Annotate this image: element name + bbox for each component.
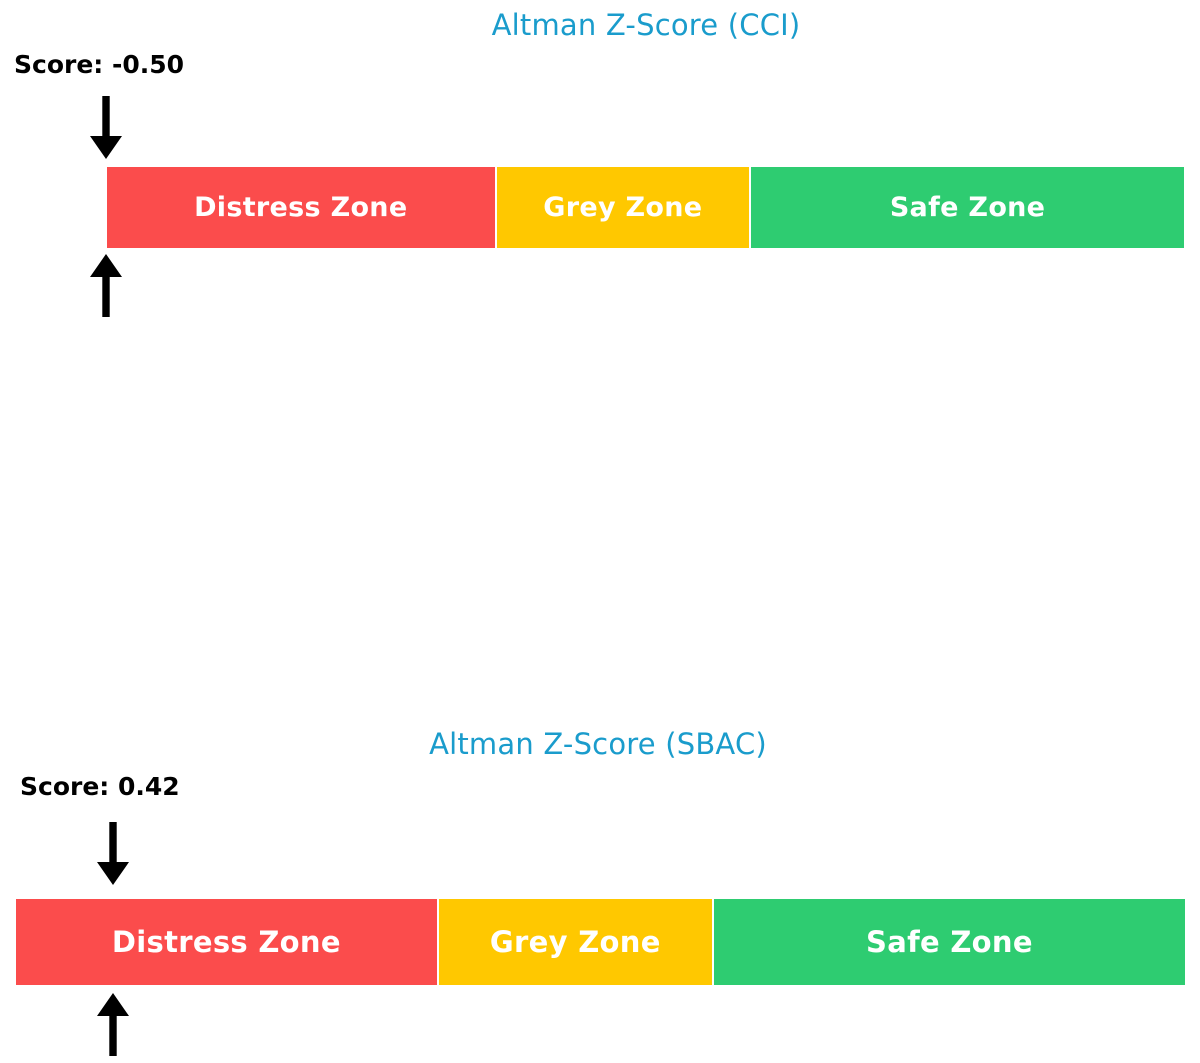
chart-title-sbac: Altman Z-Score (SBAC)	[0, 730, 1196, 759]
arrow-down-icon	[84, 96, 128, 166]
zone-label-distress: Distress Zone	[194, 194, 407, 221]
chart-panel-sbac: Altman Z-Score (SBAC) Score: 0.42 Distre…	[0, 360, 1200, 744]
zone-bar-sbac: Distress Zone Grey Zone Safe Zone	[15, 898, 1186, 986]
zone-segment-distress[interactable]: Distress Zone	[15, 898, 438, 986]
arrow-down-icon	[91, 822, 135, 892]
zone-label-safe: Safe Zone	[890, 194, 1046, 221]
arrow-up-icon	[91, 993, 135, 1063]
chart-canvas: Altman Z-Score (CCI) Score: -0.50 Distre…	[0, 0, 1200, 744]
zone-label-safe: Safe Zone	[866, 928, 1033, 957]
score-label-sbac: Score: 0.42	[20, 774, 180, 799]
zone-segment-safe[interactable]: Safe Zone	[750, 166, 1185, 249]
zone-label-grey: Grey Zone	[543, 194, 702, 221]
chart-panel-cci: Altman Z-Score (CCI) Score: -0.50 Distre…	[0, 0, 1200, 360]
zone-segment-distress[interactable]: Distress Zone	[106, 166, 496, 249]
arrow-up-icon	[84, 254, 128, 324]
chart-title-cci: Altman Z-Score (CCI)	[0, 11, 1200, 40]
zone-segment-grey[interactable]: Grey Zone	[438, 898, 713, 986]
zone-segment-safe[interactable]: Safe Zone	[713, 898, 1186, 986]
zone-bar-cci: Distress Zone Grey Zone Safe Zone	[106, 166, 1185, 249]
score-label-cci: Score: -0.50	[14, 52, 184, 77]
zone-label-grey: Grey Zone	[490, 928, 661, 957]
zone-label-distress: Distress Zone	[112, 928, 341, 957]
zone-segment-grey[interactable]: Grey Zone	[496, 166, 751, 249]
